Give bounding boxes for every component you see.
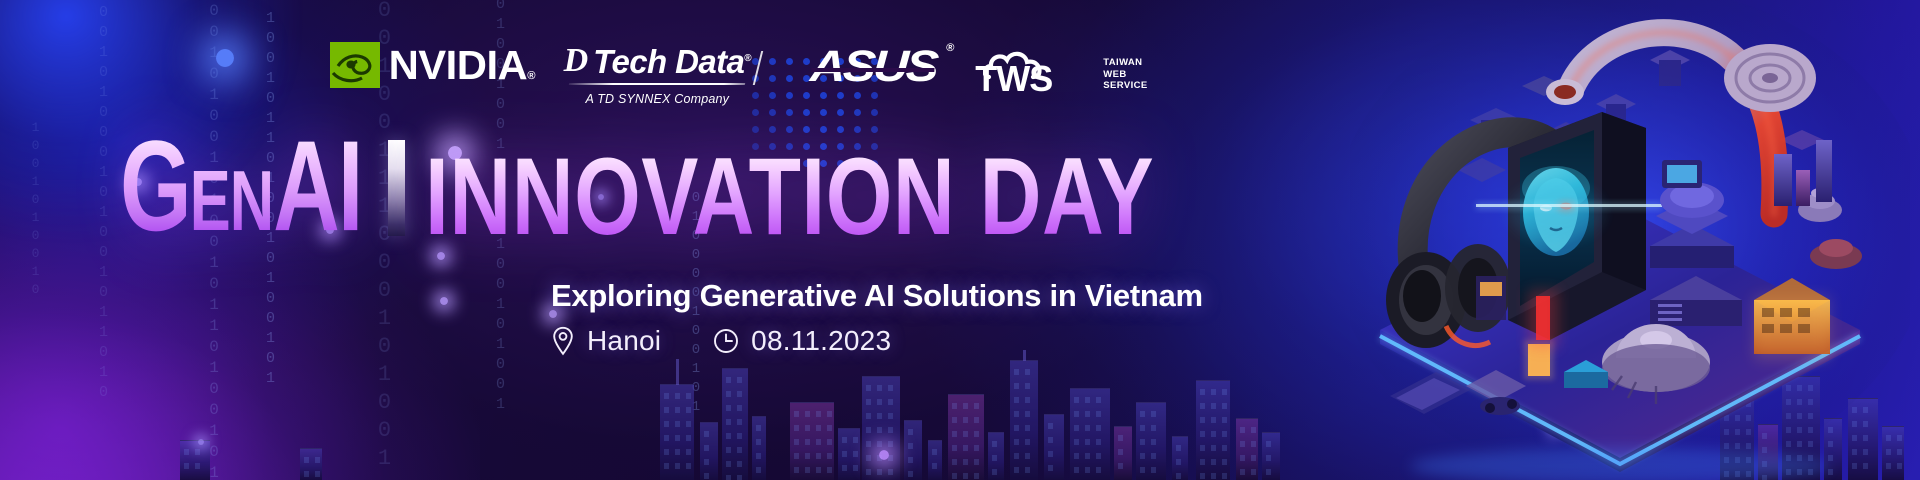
- clock-icon: [713, 328, 739, 354]
- building-window: [877, 469, 882, 475]
- building-window: [866, 427, 871, 433]
- building-window: [974, 445, 979, 451]
- building-window: [888, 399, 893, 405]
- building-window: [992, 469, 997, 475]
- building-window: [908, 443, 913, 449]
- building-window: [675, 421, 680, 427]
- meta-date: 08.11.2023: [713, 325, 891, 357]
- event-meta: Hanoi 08.11.2023: [551, 325, 891, 357]
- partner-logo-row: NVIDIA® D Tech Data® A TD SYNNEX Company…: [330, 36, 1148, 110]
- building-window: [827, 411, 832, 417]
- building-window: [866, 441, 871, 447]
- skyline-building: [180, 440, 210, 480]
- building-window: [1074, 439, 1079, 445]
- building-window: [816, 439, 821, 445]
- skyline-building: [1070, 388, 1110, 480]
- building-window: [1085, 439, 1090, 445]
- building-window: [1211, 389, 1216, 395]
- building-window: [1118, 435, 1123, 441]
- building-window: [866, 455, 871, 461]
- building-window: [963, 459, 968, 465]
- building-window: [756, 439, 761, 445]
- building-window: [1176, 445, 1181, 451]
- building-window: [1251, 455, 1256, 461]
- building-window: [1085, 411, 1090, 417]
- building-window: [952, 403, 957, 409]
- skyline-building: [300, 448, 322, 480]
- skyline-building: [1114, 426, 1132, 480]
- building-window: [1014, 467, 1019, 473]
- subtitle: Exploring Generative AI Solutions in Vie…: [551, 278, 1203, 314]
- matrix-dot: [837, 126, 844, 133]
- building-window: [1151, 453, 1156, 459]
- building-window: [737, 475, 742, 480]
- building-window: [1222, 389, 1227, 395]
- building-window: [908, 457, 913, 463]
- building-window: [1211, 459, 1216, 465]
- tws-mark: TWS: [975, 43, 1097, 99]
- building-window: [1025, 467, 1030, 473]
- building-window: [664, 449, 669, 455]
- building-window: [737, 433, 742, 439]
- skyline-building: [948, 394, 984, 480]
- building-window: [1014, 383, 1019, 389]
- building-window: [866, 399, 871, 405]
- techdata-monogram: D: [564, 44, 587, 78]
- building-window: [963, 403, 968, 409]
- meta-location: Hanoi: [551, 325, 661, 357]
- building-window: [963, 473, 968, 479]
- matrix-dot: [854, 126, 861, 133]
- building-window: [1211, 417, 1216, 423]
- building-window: [1211, 403, 1216, 409]
- building-window: [1014, 453, 1019, 459]
- building-window: [1025, 411, 1030, 417]
- building-window: [805, 467, 810, 473]
- building-window: [877, 385, 882, 391]
- skyline-building: [722, 368, 748, 480]
- building-window: [877, 427, 882, 433]
- building-window: [816, 453, 821, 459]
- logo-nvidia[interactable]: NVIDIA®: [330, 42, 534, 88]
- building-window: [664, 421, 669, 427]
- building-window: [726, 433, 731, 439]
- location-pin-icon: [551, 326, 575, 356]
- building-window: [827, 467, 832, 473]
- headline-block: GENAI INNOVATION DAY: [120, 140, 1139, 242]
- building-window: [1222, 431, 1227, 437]
- matrix-dot: [803, 109, 810, 116]
- building-window: [1200, 473, 1205, 479]
- building-window: [737, 391, 742, 397]
- skyline-building: [1236, 418, 1258, 480]
- building-window: [1151, 439, 1156, 445]
- building-window: [1222, 417, 1227, 423]
- building-window: [1251, 441, 1256, 447]
- building-window: [827, 453, 832, 459]
- glow-dot: [879, 450, 889, 460]
- building-window: [1014, 439, 1019, 445]
- building-window: [1085, 425, 1090, 431]
- building-window: [686, 421, 691, 427]
- building-window: [704, 459, 709, 465]
- building-window: [686, 393, 691, 399]
- building-window: [1048, 423, 1053, 429]
- building-window: [686, 463, 691, 469]
- glow-dot: [216, 49, 234, 67]
- logo-techdata[interactable]: D Tech Data® A TD SYNNEX Company: [564, 44, 751, 106]
- building-window: [1025, 369, 1030, 375]
- building-window: [1074, 467, 1079, 473]
- building-window: [1048, 465, 1053, 471]
- logo-tws[interactable]: TWS TAIWAN WEB SERVICE: [975, 43, 1147, 99]
- building-window: [704, 431, 709, 437]
- skyline-building: [904, 420, 922, 480]
- building-window: [1118, 463, 1123, 469]
- building-window: [1200, 403, 1205, 409]
- building-window: [737, 419, 742, 425]
- building-window: [827, 425, 832, 431]
- building-window: [1176, 459, 1181, 465]
- building-window: [866, 385, 871, 391]
- building-window: [1211, 473, 1216, 479]
- building-window: [853, 451, 858, 457]
- building-window: [1200, 459, 1205, 465]
- building-window: [963, 445, 968, 451]
- building-window: [664, 407, 669, 413]
- building-window: [1025, 453, 1030, 459]
- building-window: [877, 399, 882, 405]
- building-window: [1025, 383, 1030, 389]
- matrix-dot: [803, 126, 810, 133]
- building-window: [675, 393, 680, 399]
- skyline-building: [700, 422, 718, 480]
- binary-column-6: 1001010010: [28, 120, 43, 300]
- building-window: [842, 465, 847, 471]
- building-window: [726, 447, 731, 453]
- building-window: [805, 453, 810, 459]
- building-window: [1240, 455, 1245, 461]
- techdata-underline: [569, 83, 745, 85]
- binary-column-0: 100101000101001011010: [95, 0, 112, 404]
- building-window: [675, 435, 680, 441]
- building-window: [704, 473, 709, 479]
- building-window: [1211, 445, 1216, 451]
- matrix-dot: [752, 126, 759, 133]
- building-window: [805, 411, 810, 417]
- building-window: [1200, 389, 1205, 395]
- building-window: [842, 451, 847, 457]
- building-window: [952, 417, 957, 423]
- matrix-dot: [837, 109, 844, 116]
- building-window: [816, 425, 821, 431]
- building-window: [908, 429, 913, 435]
- building-window: [1140, 439, 1145, 445]
- building-window: [952, 431, 957, 437]
- techdata-wordmark: Tech Data®: [593, 45, 751, 78]
- building-window: [1266, 469, 1271, 475]
- building-window: [963, 431, 968, 437]
- building-window: [304, 471, 309, 477]
- building-window: [827, 439, 832, 445]
- building-window: [952, 473, 957, 479]
- building-window: [794, 453, 799, 459]
- asus-wordmark: ASUS®: [809, 45, 937, 89]
- building-window: [853, 437, 858, 443]
- building-window: [726, 391, 731, 397]
- tws-wordmark: TWS: [975, 61, 1052, 97]
- building-window: [1096, 411, 1101, 417]
- building-window: [1096, 453, 1101, 459]
- building-window: [184, 449, 189, 455]
- building-window: [737, 447, 742, 453]
- glow-dot: [440, 297, 448, 305]
- building-window: [932, 449, 937, 455]
- building-window: [794, 425, 799, 431]
- building-window: [1200, 431, 1205, 437]
- page-title-event: INNOVATION DAY: [425, 152, 1154, 242]
- building-window: [805, 425, 810, 431]
- nvidia-eye-icon: [330, 42, 380, 88]
- building-window: [184, 463, 189, 469]
- building-window: [664, 393, 669, 399]
- matrix-dot: [786, 126, 793, 133]
- building-window: [888, 413, 893, 419]
- building-window: [952, 445, 957, 451]
- building-window: [756, 467, 761, 473]
- building-window: [737, 405, 742, 411]
- building-window: [794, 439, 799, 445]
- matrix-dot: [820, 126, 827, 133]
- building-window: [1118, 449, 1123, 455]
- building-window: [1096, 467, 1101, 473]
- building-window: [963, 417, 968, 423]
- date-label: 08.11.2023: [751, 325, 891, 357]
- building-window: [726, 377, 731, 383]
- skyline-building: [1044, 414, 1064, 480]
- building-window: [1074, 425, 1079, 431]
- building-window: [1200, 445, 1205, 451]
- skyline-building: [1010, 360, 1038, 480]
- building-window: [726, 405, 731, 411]
- building-window: [195, 463, 200, 469]
- techdata-tagline: A TD SYNNEX Company: [585, 92, 729, 106]
- building-window: [1014, 411, 1019, 417]
- building-window: [1211, 431, 1216, 437]
- building-window: [1200, 417, 1205, 423]
- building-window: [686, 449, 691, 455]
- building-window: [1140, 467, 1145, 473]
- title-divider: [388, 140, 405, 236]
- building-window: [195, 449, 200, 455]
- building-window: [686, 435, 691, 441]
- skyline-building: [1136, 402, 1166, 480]
- matrix-dot: [769, 109, 776, 116]
- building-window: [877, 413, 882, 419]
- building-window: [1240, 469, 1245, 475]
- building-window: [866, 469, 871, 475]
- skyline-building: [862, 376, 900, 480]
- building-window: [1074, 453, 1079, 459]
- building-window: [1222, 403, 1227, 409]
- building-window: [756, 453, 761, 459]
- building-window: [992, 455, 997, 461]
- building-window: [1140, 411, 1145, 417]
- matrix-dot: [786, 109, 793, 116]
- nvidia-wordmark: NVIDIA®: [389, 45, 535, 86]
- building-window: [1240, 427, 1245, 433]
- building-window: [315, 471, 320, 477]
- building-window: [1240, 441, 1245, 447]
- building-window: [992, 441, 997, 447]
- building-window: [1222, 473, 1227, 479]
- building-window: [664, 463, 669, 469]
- building-window: [737, 461, 742, 467]
- building-window: [1096, 425, 1101, 431]
- building-window: [1151, 425, 1156, 431]
- building-window: [794, 467, 799, 473]
- building-window: [1266, 455, 1271, 461]
- building-window: [816, 411, 821, 417]
- building-window: [866, 413, 871, 419]
- building-window: [974, 403, 979, 409]
- building-window: [664, 435, 669, 441]
- glow-dot: [198, 439, 204, 445]
- building-window: [1085, 453, 1090, 459]
- building-window: [1176, 473, 1181, 479]
- building-window: [1222, 445, 1227, 451]
- building-window: [675, 463, 680, 469]
- building-window: [1014, 397, 1019, 403]
- building-window: [908, 471, 913, 477]
- building-window: [1251, 427, 1256, 433]
- building-window: [304, 457, 309, 463]
- building-window: [1014, 369, 1019, 375]
- matrix-dot: [769, 126, 776, 133]
- skyline-building: [1262, 432, 1280, 480]
- building-window: [1251, 469, 1256, 475]
- building-window: [888, 427, 893, 433]
- building-window: [805, 439, 810, 445]
- building-window: [853, 465, 858, 471]
- building-window: [726, 461, 731, 467]
- building-window: [974, 473, 979, 479]
- building-window: [888, 385, 893, 391]
- matrix-dot: [854, 109, 861, 116]
- logo-asus[interactable]: ASUS®: [817, 45, 929, 89]
- matrix-dot: [820, 109, 827, 116]
- building-window: [704, 445, 709, 451]
- location-label: Hanoi: [587, 325, 661, 357]
- building-window: [1048, 451, 1053, 457]
- building-window: [1014, 425, 1019, 431]
- building-window: [932, 463, 937, 469]
- building-window: [842, 437, 847, 443]
- matrix-dot: [752, 109, 759, 116]
- building-window: [1151, 411, 1156, 417]
- building-window: [1048, 437, 1053, 443]
- building-window: [756, 425, 761, 431]
- building-window: [1085, 467, 1090, 473]
- building-window: [794, 411, 799, 417]
- building-window: [1074, 397, 1079, 403]
- building-window: [974, 417, 979, 423]
- page-title-genai: GENAI: [120, 134, 362, 242]
- building-window: [888, 441, 893, 447]
- building-window: [1085, 397, 1090, 403]
- building-window: [974, 431, 979, 437]
- building-window: [816, 467, 821, 473]
- skyline-building: [988, 432, 1004, 480]
- building-window: [974, 459, 979, 465]
- genai-isometric-illustration: [1350, 0, 1910, 480]
- skyline-building: [752, 416, 766, 480]
- building-window: [726, 419, 731, 425]
- building-window: [737, 377, 742, 383]
- skyline-building: [838, 428, 860, 480]
- building-window: [1140, 425, 1145, 431]
- building-window: [1266, 441, 1271, 447]
- building-window: [1074, 411, 1079, 417]
- building-window: [686, 407, 691, 413]
- building-window: [675, 407, 680, 413]
- building-window: [888, 469, 893, 475]
- building-window: [952, 459, 957, 465]
- building-window: [726, 475, 731, 480]
- building-window: [1151, 467, 1156, 473]
- building-window: [315, 457, 320, 463]
- tws-tagline: TAIWAN WEB SERVICE: [1103, 57, 1147, 91]
- building-window: [1222, 459, 1227, 465]
- building-window: [675, 449, 680, 455]
- building-window: [877, 441, 882, 447]
- building-window: [1140, 453, 1145, 459]
- building-window: [1025, 425, 1030, 431]
- skyline-building: [928, 440, 942, 480]
- matrix-dot: [871, 109, 878, 116]
- techdata-main: D Tech Data®: [564, 44, 751, 78]
- skyline-building: [660, 384, 694, 480]
- genai-innovation-day-banner: 1001010001010010110100100101001010010110…: [0, 0, 1920, 480]
- matrix-dot: [871, 126, 878, 133]
- building-window: [1096, 439, 1101, 445]
- skyline-building: [1172, 436, 1188, 480]
- skyline-building: [790, 402, 834, 480]
- building-window: [1025, 439, 1030, 445]
- building-window: [1025, 397, 1030, 403]
- building-window: [1096, 397, 1101, 403]
- skyline-building: [1196, 380, 1230, 480]
